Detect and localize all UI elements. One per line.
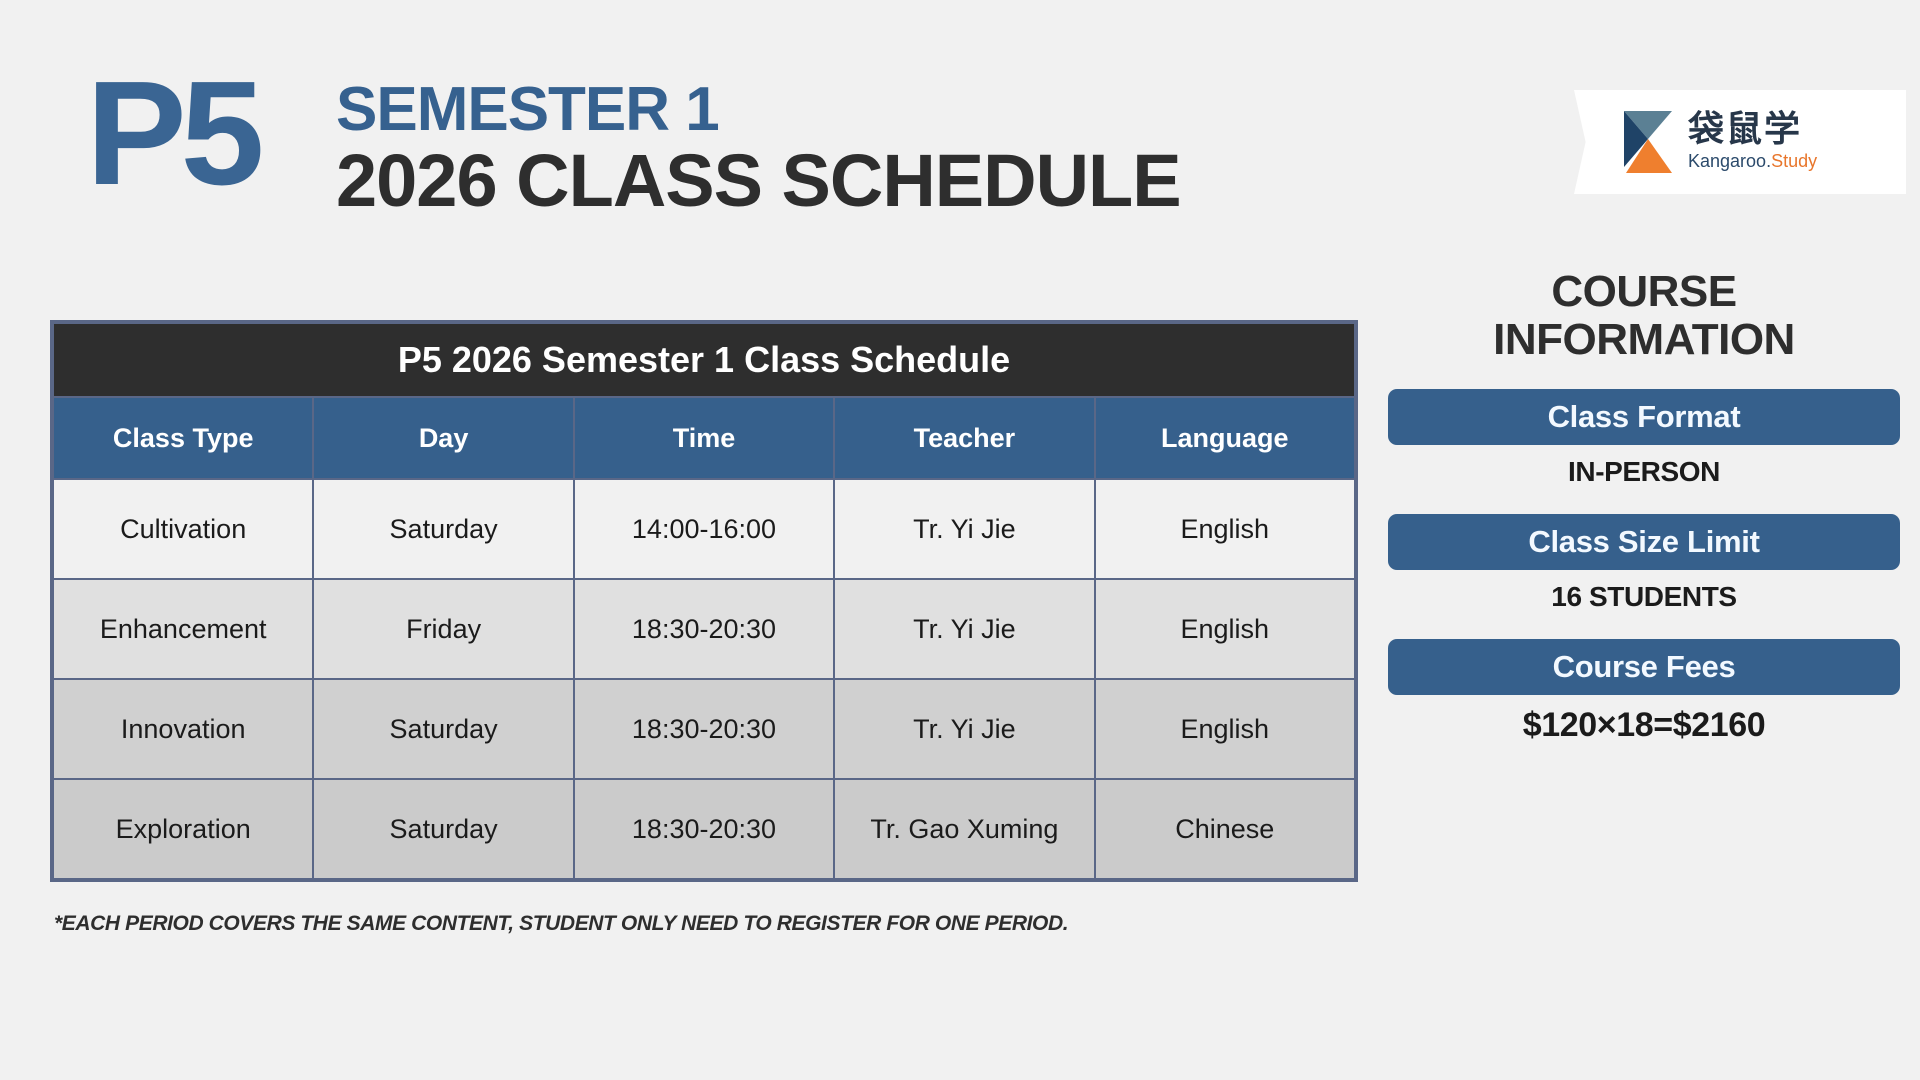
table-header-row: Class Type Day Time Teacher Language <box>53 397 1355 479</box>
cell-day: Saturday <box>313 679 573 779</box>
schedule-footnote: *EACH PERIOD COVERS THE SAME CONTENT, ST… <box>54 912 1068 936</box>
cell-class-type: Innovation <box>53 679 313 779</box>
cell-day: Saturday <box>313 479 573 579</box>
cell-day: Saturday <box>313 779 573 879</box>
info-group-class-format: Class Format IN-PERSON <box>1388 389 1900 488</box>
semester-title: SEMESTER 1 <box>336 78 1181 141</box>
table-row: Exploration Saturday 18:30-20:30 Tr. Gao… <box>53 779 1355 879</box>
table-row: Enhancement Friday 18:30-20:30 Tr. Yi Ji… <box>53 579 1355 679</box>
table-title-row: P5 2026 Semester 1 Class Schedule <box>53 323 1355 397</box>
course-information-panel: COURSE INFORMATION Class Format IN-PERSO… <box>1388 268 1900 745</box>
info-group-course-fees: Course Fees $120×18=$2160 <box>1388 639 1900 745</box>
cell-language: English <box>1095 679 1355 779</box>
column-header-language: Language <box>1095 397 1355 479</box>
column-header-class-type: Class Type <box>53 397 313 479</box>
poster-header: P5 SEMESTER 1 2026 CLASS SCHEDULE <box>86 78 1326 228</box>
course-information-heading: COURSE INFORMATION <box>1388 268 1900 363</box>
course-fees-label: Course Fees <box>1388 639 1900 695</box>
title-stack: SEMESTER 1 2026 CLASS SCHEDULE <box>336 78 1181 219</box>
cell-teacher: Tr. Gao Xuming <box>834 779 1094 879</box>
cell-time: 18:30-20:30 <box>574 679 834 779</box>
logo-text: 袋鼠学 Kangaroo.Study <box>1688 111 1817 172</box>
column-header-time: Time <box>574 397 834 479</box>
cell-time: 18:30-20:30 <box>574 779 834 879</box>
brand-logo-banner: 袋鼠学 Kangaroo.Study <box>1574 90 1906 194</box>
course-info-heading-line2: INFORMATION <box>1388 316 1900 364</box>
schedule-table-container: P5 2026 Semester 1 Class Schedule Class … <box>52 322 1356 880</box>
cell-teacher: Tr. Yi Jie <box>834 579 1094 679</box>
cell-teacher: Tr. Yi Jie <box>834 679 1094 779</box>
table-title: P5 2026 Semester 1 Class Schedule <box>53 323 1355 397</box>
class-size-limit-label: Class Size Limit <box>1388 514 1900 570</box>
logo-english-primary: Kangaroo. <box>1688 151 1771 171</box>
cell-class-type: Enhancement <box>53 579 313 679</box>
column-header-day: Day <box>313 397 573 479</box>
cell-language: English <box>1095 479 1355 579</box>
column-header-teacher: Teacher <box>834 397 1094 479</box>
kangaroo-logo-icon <box>1614 109 1676 175</box>
cell-time: 14:00-16:00 <box>574 479 834 579</box>
table-row: Innovation Saturday 18:30-20:30 Tr. Yi J… <box>53 679 1355 779</box>
schedule-table: P5 2026 Semester 1 Class Schedule Class … <box>52 322 1356 880</box>
p5-grade-mark: P5 <box>86 60 258 208</box>
course-fees-value: $120×18=$2160 <box>1388 706 1900 745</box>
table-row: Cultivation Saturday 14:00-16:00 Tr. Yi … <box>53 479 1355 579</box>
cell-teacher: Tr. Yi Jie <box>834 479 1094 579</box>
cell-class-type: Cultivation <box>53 479 313 579</box>
cell-time: 18:30-20:30 <box>574 579 834 679</box>
logo-english-accent: Study <box>1771 151 1817 171</box>
class-format-label: Class Format <box>1388 389 1900 445</box>
logo-english-name: Kangaroo.Study <box>1688 151 1817 173</box>
table-body: Cultivation Saturday 14:00-16:00 Tr. Yi … <box>53 479 1355 879</box>
class-size-limit-value: 16 STUDENTS <box>1388 581 1900 613</box>
cell-day: Friday <box>313 579 573 679</box>
cell-language: English <box>1095 579 1355 679</box>
course-info-heading-line1: COURSE <box>1388 268 1900 316</box>
logo-chinese-name: 袋鼠学 <box>1688 111 1817 149</box>
cell-language: Chinese <box>1095 779 1355 879</box>
cell-class-type: Exploration <box>53 779 313 879</box>
info-group-class-size: Class Size Limit 16 STUDENTS <box>1388 514 1900 613</box>
class-format-value: IN-PERSON <box>1388 456 1900 488</box>
schedule-title: 2026 CLASS SCHEDULE <box>336 143 1181 218</box>
